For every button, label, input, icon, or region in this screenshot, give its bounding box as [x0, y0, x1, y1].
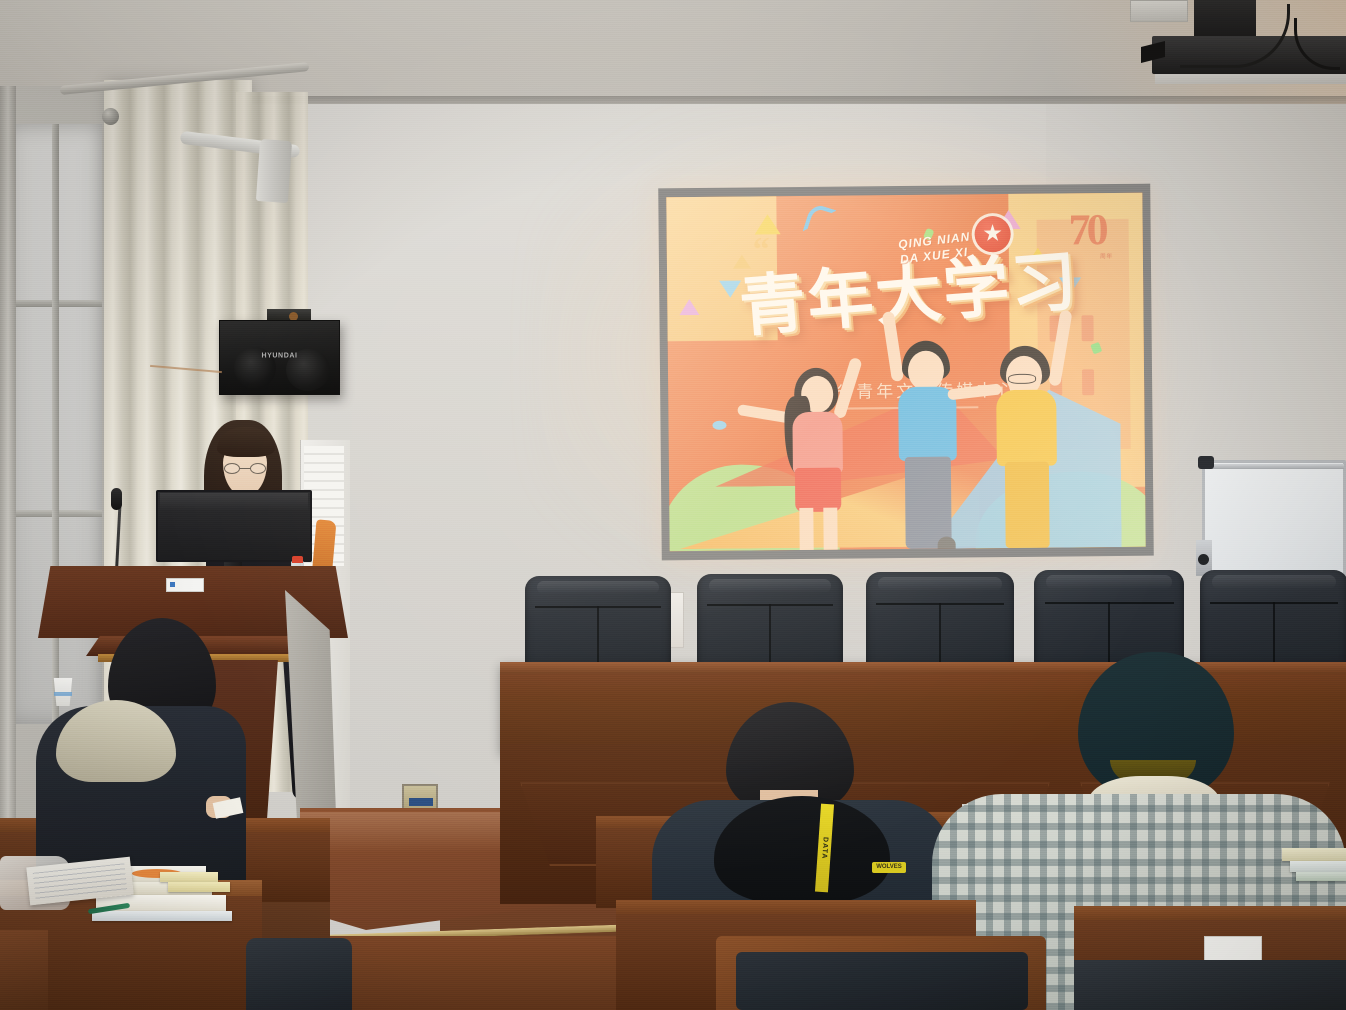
desk-asset-tag: [1204, 936, 1262, 961]
ceiling-pipe-elbow: [256, 139, 292, 203]
wall-speaker: HYUNDAI: [219, 320, 340, 395]
confetti-dot: [712, 421, 726, 430]
projection-screen: 70 周年 “ 青年大学习 QING NIAN: [658, 184, 1154, 561]
whiteboard-top-rail: [1204, 464, 1344, 469]
slide-figure-boy-blue: [880, 326, 982, 549]
speaker-brand-label: HYUNDAI: [261, 353, 297, 360]
slide-figure-girl-pink: [776, 349, 874, 550]
anniversary-logo-sub: 周年: [1100, 251, 1113, 260]
star-glyph: ★: [982, 222, 1003, 245]
foreground-bench-seat: [1074, 960, 1346, 1010]
star-badge-icon: ★: [975, 216, 1011, 252]
book: [1296, 872, 1346, 881]
foreground-chair[interactable]: [246, 938, 352, 1010]
book: [92, 911, 232, 921]
slide-foreground-object: [938, 537, 956, 552]
executive-chair[interactable]: [697, 574, 843, 672]
whiteboard-tray-knob: [1198, 554, 1209, 565]
executive-chair[interactable]: [525, 576, 671, 672]
microphone-icon: [111, 488, 122, 510]
foreground-bench-seat: [736, 952, 1028, 1010]
stage-front-face: [320, 936, 640, 1010]
student-center-hood-badge: WOLVES: [872, 862, 906, 873]
monitor-glare: [160, 493, 308, 511]
presenter-glasses-icon: [224, 463, 266, 475]
confetti-ribbon: [803, 203, 837, 239]
water-bottle-cap: [292, 556, 303, 563]
slide-quote-mark: “: [753, 240, 770, 260]
executive-chair[interactable]: [866, 572, 1014, 672]
paper-cup-band: [54, 692, 72, 696]
book: [1282, 848, 1346, 861]
lectern-asset-tag: [166, 578, 204, 592]
foreground-chair-arm: [0, 930, 48, 1010]
window-frame: [0, 86, 16, 846]
confetti-triangle: [733, 254, 751, 268]
whiteboard: [1202, 460, 1346, 582]
book: [168, 882, 230, 892]
classroom-photo-scene: HYUNDAI 70 周年: [0, 0, 1346, 1010]
whiteboard-corner-bracket: [1198, 456, 1214, 469]
slide-figure-boy-yellow: [982, 331, 1084, 548]
curtain-rod-end-cap: [102, 108, 119, 125]
executive-chair[interactable]: [1200, 570, 1346, 672]
slide-building-window: [1081, 315, 1093, 341]
book: [160, 872, 218, 882]
confetti-triangle: [679, 299, 699, 315]
head-table-lip: [500, 662, 1346, 674]
book: [1290, 861, 1346, 872]
projected-slide: 70 周年 “ 青年大学习 QING NIAN: [666, 193, 1145, 552]
